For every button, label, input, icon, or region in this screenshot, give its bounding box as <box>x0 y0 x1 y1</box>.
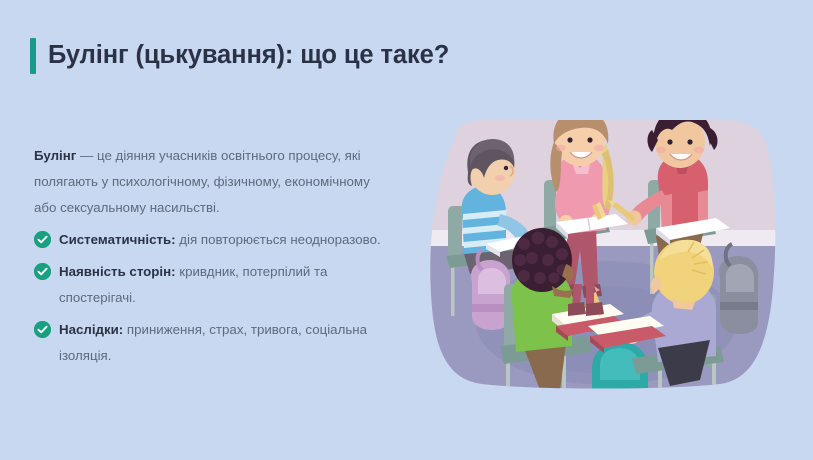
list-item-label: Наслідки: <box>59 322 123 337</box>
page-title: Булінг (цькування): що це таке? <box>30 38 449 74</box>
intro-paragraph: Булінг — це діяння учасників освітнього … <box>34 143 394 221</box>
intro-term: Булінг <box>34 148 76 163</box>
slide-root: Булінг (цькування): що це таке? Булінг —… <box>0 0 813 460</box>
classroom-students-circle-illustration <box>420 118 786 390</box>
title-text: Булінг (цькування): що це таке? <box>48 43 449 69</box>
intro-rest: — це діяння учасників освітнього процесу… <box>34 148 370 215</box>
list-item-label: Систематичність: <box>59 232 176 247</box>
list-item-text: дія повторюється неодноразово. <box>176 232 381 247</box>
check-circle-icon <box>34 321 51 338</box>
check-circle-icon <box>34 263 51 280</box>
list-item: Систематичність: дія повторюється неодно… <box>34 227 394 253</box>
content-column: Булінг — це діяння учасників освітнього … <box>34 143 394 375</box>
list-item: Наявність сторін: кривдник, потерпілий т… <box>34 259 394 311</box>
check-circle-icon <box>34 231 51 248</box>
list-item: Наслідки: приниження, страх, тривога, со… <box>34 317 394 369</box>
title-accent-bar <box>30 38 36 74</box>
list-item-label: Наявність сторін: <box>59 264 176 279</box>
feature-list: Систематичність: дія повторюється неодно… <box>34 227 394 369</box>
